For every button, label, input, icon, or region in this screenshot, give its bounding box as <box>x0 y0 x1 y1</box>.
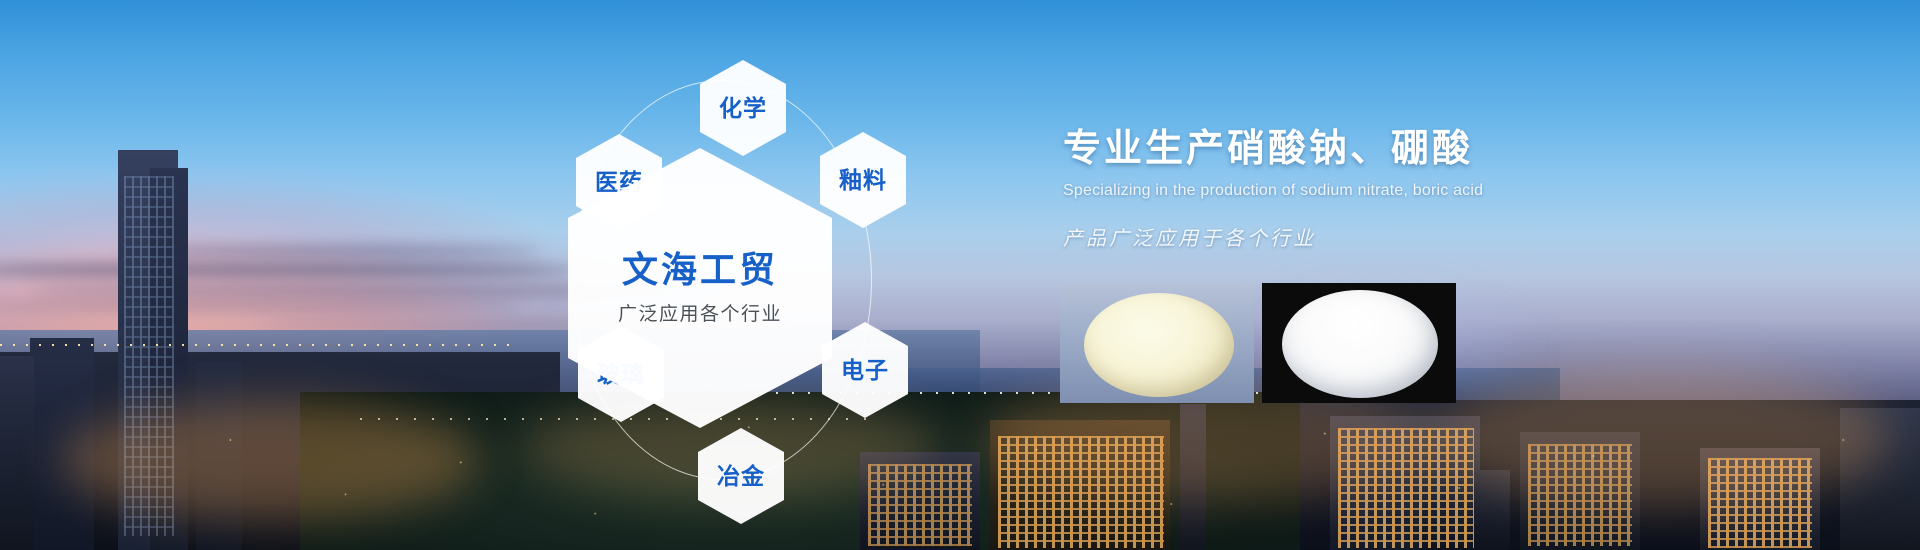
banner-text-panel: 专业生产硝酸钠、硼酸 Specializing in the productio… <box>1063 128 1863 251</box>
banner-tagline: 产品广泛应用于各个行业 <box>1063 222 1863 251</box>
hex-node-label: 冶金 <box>717 465 765 488</box>
hex-node-label: 电子 <box>841 359 889 382</box>
bridge-lights <box>0 344 520 346</box>
hex-node-label: 化学 <box>719 97 767 120</box>
product-photo-boric-acid[interactable] <box>1262 283 1456 403</box>
hero-banner: 化学 釉料 电子 冶金 玻璃 医药 文海工贸 广泛应用各个行业 专业生产硝酸钠、… <box>0 0 1920 550</box>
hex-node-label: 釉料 <box>839 169 887 192</box>
powder-grain-texture <box>1084 293 1234 397</box>
company-tagline: 广泛应用各个行业 <box>618 299 782 326</box>
banner-subheadline: Specializing in the production of sodium… <box>1063 182 1863 200</box>
product-photo-group <box>1060 283 1456 403</box>
hexagon-infographic: 化学 釉料 电子 冶金 玻璃 医药 文海工贸 广泛应用各个行业 <box>520 30 1020 530</box>
banner-headline: 专业生产硝酸钠、硼酸 <box>1063 128 1863 172</box>
powder-pile <box>1084 293 1234 397</box>
product-photo-sodium-nitrate[interactable] <box>1060 283 1254 403</box>
powder-pile <box>1282 290 1438 398</box>
cloud-band <box>0 300 520 311</box>
powder-grain-texture <box>1282 290 1438 398</box>
company-name: 文海工贸 <box>622 250 778 290</box>
